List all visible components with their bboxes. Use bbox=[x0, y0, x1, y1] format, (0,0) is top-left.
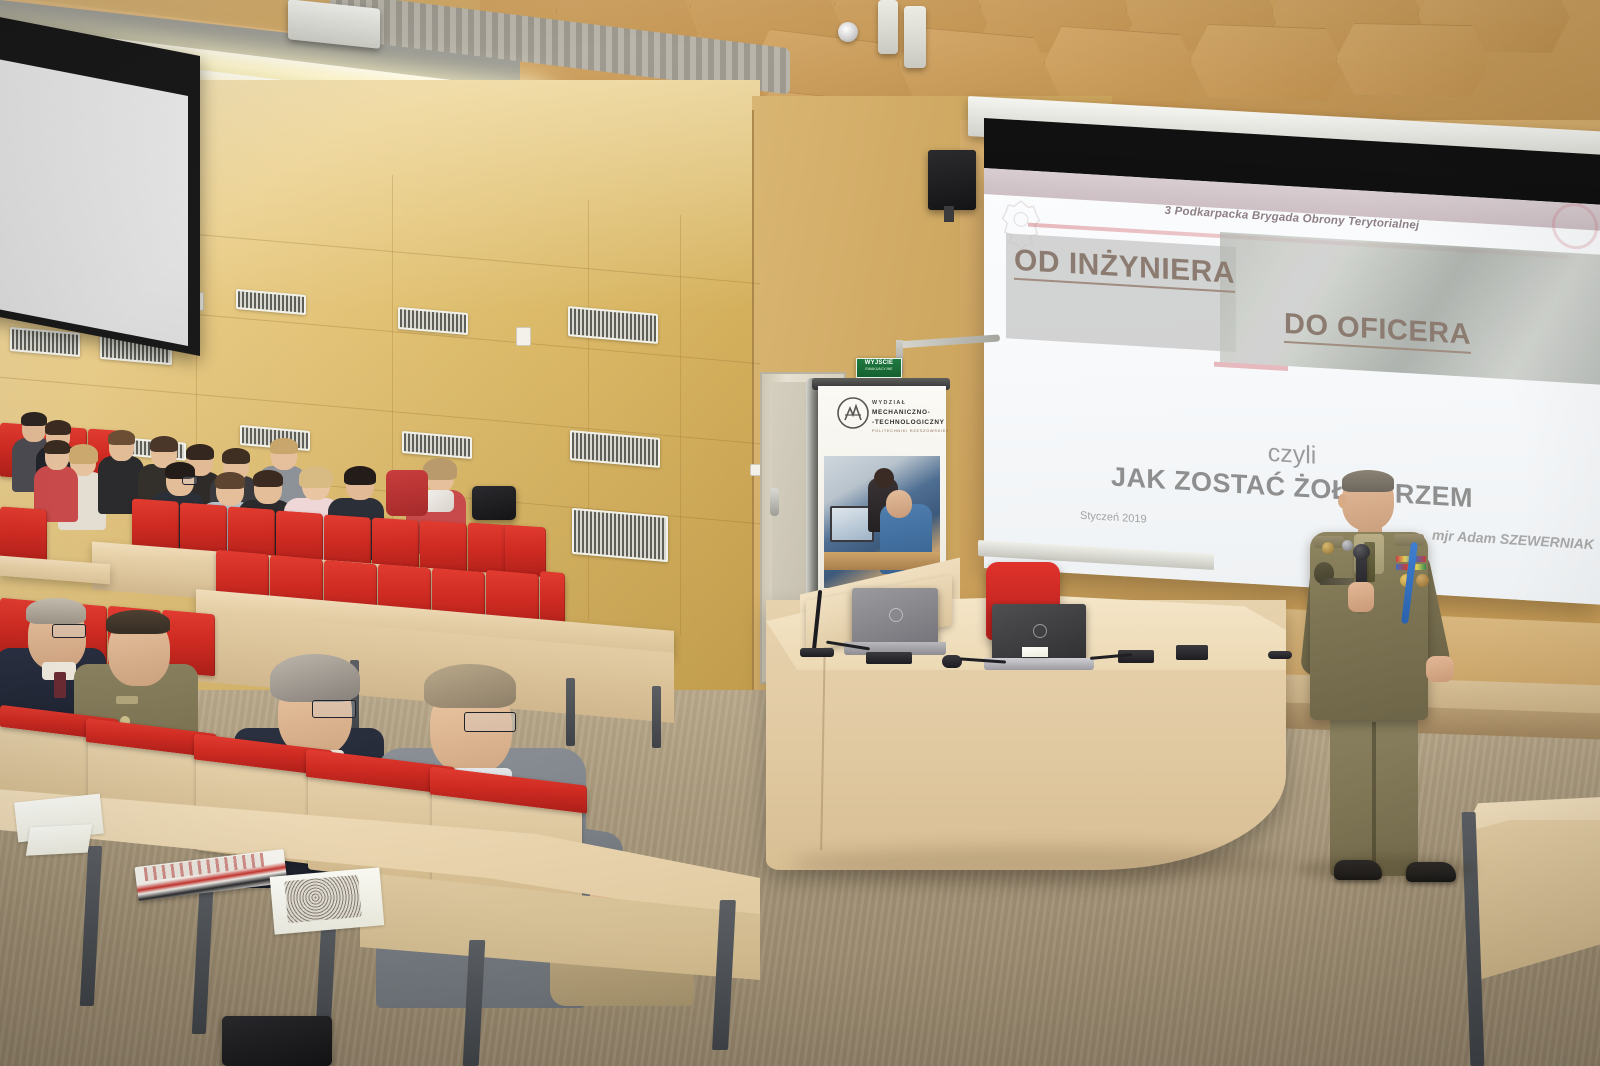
person-hair bbox=[215, 472, 245, 489]
person-hair bbox=[150, 436, 178, 452]
wall-seam bbox=[680, 215, 681, 635]
banner-line-1: WYDZIAŁ bbox=[872, 400, 906, 406]
microphone-base bbox=[800, 648, 834, 657]
banner-photo-person-front-head bbox=[886, 490, 912, 518]
speaker-medal-icon bbox=[1416, 574, 1429, 587]
person-hair bbox=[270, 654, 360, 702]
smoke-detector-icon bbox=[838, 22, 858, 42]
computer-mouse[interactable] bbox=[942, 655, 962, 668]
person-hair bbox=[44, 440, 70, 454]
officer-collar-insignia bbox=[116, 696, 138, 704]
person-hair bbox=[270, 438, 298, 454]
uniformed-officer-speaker bbox=[1296, 470, 1466, 880]
person-hair bbox=[344, 466, 376, 485]
cable-clip bbox=[1176, 645, 1208, 660]
speaker-ear bbox=[1338, 494, 1347, 508]
speaker-hand-holding-mic bbox=[1348, 582, 1374, 612]
person-tie bbox=[54, 672, 66, 698]
pendant-lamp bbox=[878, 0, 898, 54]
dell-logo-icon bbox=[1033, 624, 1047, 638]
person-hair bbox=[45, 420, 71, 435]
cable-tray bbox=[866, 652, 912, 664]
speaker-badge-icon bbox=[1342, 540, 1353, 551]
eyeglasses-icon bbox=[312, 700, 356, 718]
person-hair bbox=[299, 466, 333, 488]
wall-vent bbox=[572, 508, 668, 562]
person-hair bbox=[68, 444, 98, 464]
pendant-lamp bbox=[904, 6, 926, 68]
faculty-logo-icon bbox=[836, 396, 870, 430]
desk-leg bbox=[566, 678, 575, 746]
wall-seam bbox=[588, 200, 589, 620]
speaker-open-hand bbox=[1426, 656, 1454, 682]
coat-on-seat bbox=[386, 470, 428, 516]
speaker-hair bbox=[1342, 470, 1394, 492]
secondary-projection-screen[interactable] bbox=[0, 54, 188, 346]
microphone-head-icon bbox=[1353, 544, 1370, 560]
desk-leg bbox=[652, 686, 661, 748]
person-hair bbox=[222, 448, 250, 464]
person-hair bbox=[26, 598, 86, 624]
wall-seam bbox=[752, 110, 754, 690]
hex-acoustic-panel bbox=[1336, 23, 1490, 98]
emergency-exit-sign: WYJŚCIE EWAKUACYJNE bbox=[856, 358, 902, 378]
person-hair bbox=[106, 610, 170, 634]
speaker-badge-icon bbox=[1322, 542, 1334, 554]
eyeglasses-icon bbox=[182, 476, 198, 485]
banner-photo-person-back-head bbox=[874, 468, 894, 488]
eyeglasses-icon bbox=[52, 624, 86, 638]
floor-shadow bbox=[1296, 856, 1476, 882]
exit-sign-line1: WYJŚCIE bbox=[857, 359, 901, 367]
eyeglasses-icon bbox=[464, 712, 516, 732]
exit-sign-line2: EWAKUACYJNE bbox=[857, 367, 901, 372]
person-hair bbox=[253, 470, 283, 487]
hex-acoustic-panel bbox=[1190, 23, 1344, 102]
person-hair bbox=[108, 430, 135, 445]
slide-date: Styczeń 2019 bbox=[1080, 510, 1147, 526]
light-switch-plate[interactable] bbox=[516, 327, 531, 346]
person-hair bbox=[186, 444, 214, 460]
person-hair bbox=[424, 664, 516, 708]
folded-name-card bbox=[26, 824, 92, 856]
slide-photo-officers bbox=[1220, 232, 1600, 385]
handbag bbox=[472, 486, 516, 520]
dell-logo-icon bbox=[889, 608, 903, 622]
banner-line-3: -TECHNOLOGICZNY bbox=[872, 419, 945, 426]
wall-speaker-box bbox=[928, 150, 976, 210]
speaker-mount-bracket bbox=[944, 206, 954, 222]
door-handle[interactable] bbox=[770, 488, 779, 516]
person-hair bbox=[423, 458, 457, 480]
speaker-epaulette-right bbox=[1394, 534, 1424, 546]
banner-line-2: MECHANICZNO- bbox=[872, 409, 930, 416]
printed-sheet-image bbox=[284, 875, 361, 923]
banner-line-4: POLITECHNIKI RZESZOWSKIEJ bbox=[872, 429, 949, 433]
speaker-trouser-seam bbox=[1372, 722, 1376, 872]
laptop-asset-sticker bbox=[1022, 647, 1048, 657]
person-hair bbox=[21, 412, 47, 426]
briefcase bbox=[222, 1016, 332, 1066]
main-projection-screen[interactable]: 3 Podkarpacka Brygada Obrony Terytorialn… bbox=[984, 168, 1600, 605]
lecture-hall-photo: 3 Podkarpacka Brygada Obrony Terytorialn… bbox=[0, 0, 1600, 1066]
presenter-remote[interactable] bbox=[1268, 651, 1292, 659]
floor-shadow bbox=[790, 846, 1290, 882]
